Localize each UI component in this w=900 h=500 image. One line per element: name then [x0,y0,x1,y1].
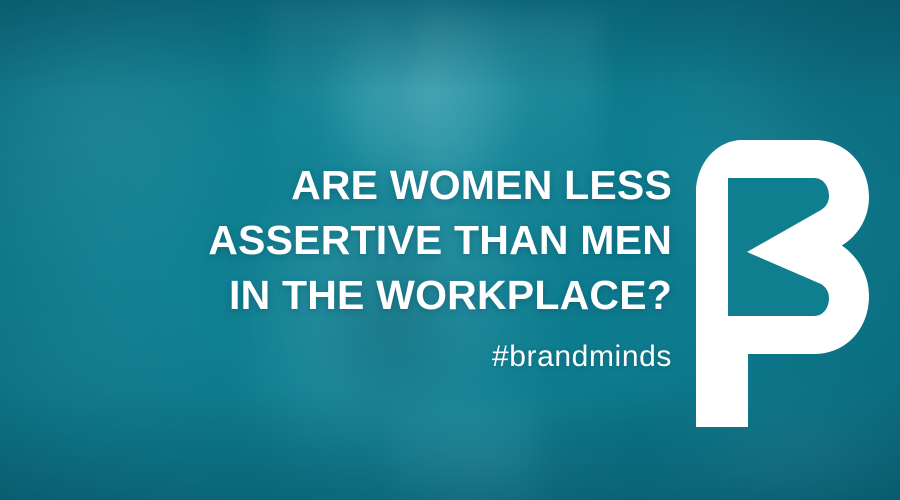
brandminds-logo-icon [690,136,870,432]
headline-line-2: ASSERTIVE THAN MEN [60,213,672,268]
headline-line-3: IN THE WORKPLACE? [60,268,672,323]
top-edge-shade [0,0,900,90]
promo-card: ARE WOMEN LESS ASSERTIVE THAN MEN IN THE… [0,0,900,500]
hashtag-brandminds: #brandminds [60,340,672,374]
headline: ARE WOMEN LESS ASSERTIVE THAN MEN IN THE… [60,158,672,323]
brandminds-logo[interactable] [690,136,870,432]
headline-line-1: ARE WOMEN LESS [60,158,672,213]
